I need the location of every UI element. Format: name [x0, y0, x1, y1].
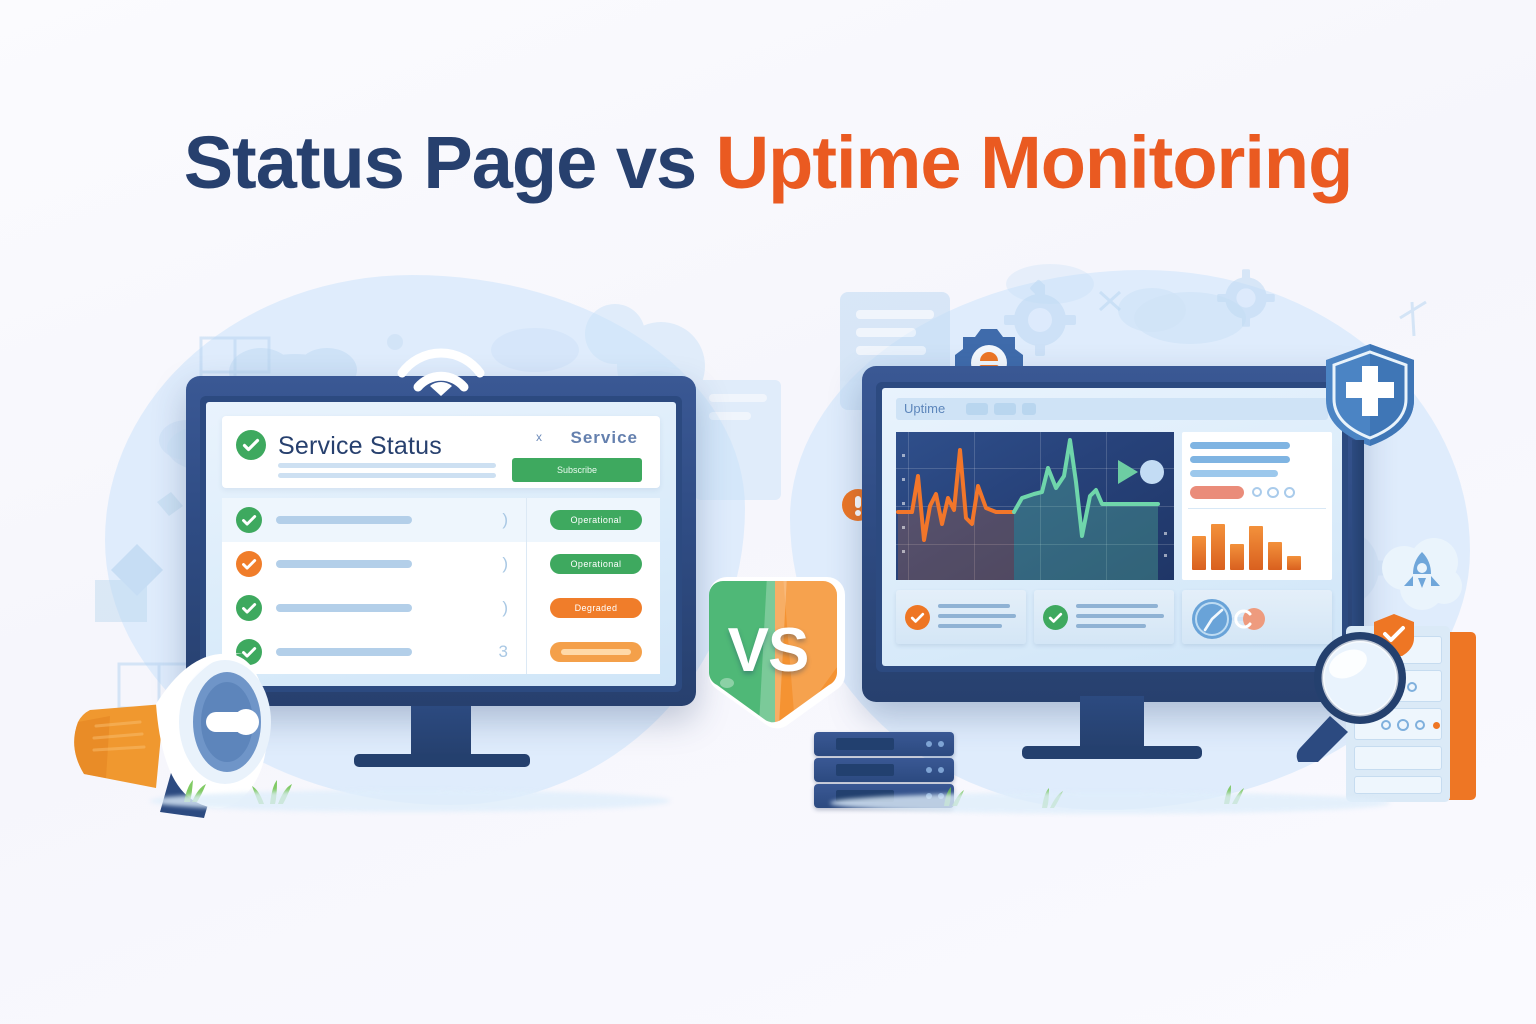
url-placeholder — [1022, 403, 1036, 415]
browser-toolbar[interactable]: Uptime — [896, 398, 1328, 420]
server-led — [938, 741, 944, 747]
bar-chart-bar — [1211, 524, 1225, 570]
url-placeholder — [966, 403, 988, 415]
url-placeholder — [994, 403, 1016, 415]
bar-chart-bar — [1192, 536, 1206, 570]
monitor-neck — [1080, 696, 1144, 748]
service-row[interactable]: ) Operational — [222, 498, 660, 542]
subscribe-button[interactable]: Subscribe — [512, 458, 642, 482]
illustration-stage: Status Page vs Uptime Monitoring — [0, 0, 1536, 1024]
row-meta: ) — [502, 598, 508, 618]
check-circle-green-icon — [236, 430, 266, 460]
monitor-neck — [411, 706, 471, 756]
ground-shadow — [830, 792, 1390, 814]
play-triangle-icon — [1118, 460, 1138, 484]
browser-url-text: Uptime — [904, 401, 945, 416]
monitor-base — [1022, 746, 1202, 759]
check-circle-green-icon — [1043, 605, 1068, 635]
row-label-placeholder — [276, 604, 412, 612]
service-status-title: Service Status — [278, 432, 442, 461]
check-circle-green-icon — [236, 595, 262, 621]
card-line — [1076, 624, 1146, 628]
bar-chart-bar — [1230, 544, 1244, 570]
card-line — [938, 624, 1002, 628]
check-circle-orange-icon — [236, 551, 262, 577]
check-circle-green-icon — [236, 507, 262, 533]
check-circle-orange-icon — [905, 605, 930, 635]
status-card[interactable] — [896, 590, 1026, 644]
bar-chart-bar — [1287, 556, 1301, 570]
service-status-header-card: Service Status x Service Subscribe — [222, 416, 660, 488]
status-card[interactable] — [1034, 590, 1174, 644]
placeholder-line — [278, 473, 496, 478]
magnifier-icon — [1286, 612, 1426, 762]
placeholder-line — [278, 463, 496, 468]
brand-prefix: x — [536, 430, 542, 444]
bar-chart-bar — [1268, 542, 1282, 570]
status-led — [1433, 722, 1440, 729]
title-right: Uptime Monitoring — [716, 121, 1353, 204]
row-meta: ) — [502, 510, 508, 530]
vs-label: VS — [683, 565, 853, 735]
card-line — [1076, 604, 1158, 608]
card-line — [938, 614, 1016, 618]
shield-cross-icon — [1322, 340, 1418, 450]
server-slot — [836, 738, 894, 750]
sidebar-line — [1190, 442, 1290, 449]
service-row[interactable]: ) Degraded — [222, 586, 660, 630]
ring-icon — [1252, 487, 1262, 497]
status-badge — [550, 642, 642, 662]
dot-circle-icon — [1140, 460, 1164, 484]
sidebar-line — [1190, 456, 1290, 463]
monitor-base — [354, 754, 530, 767]
rocket-icon — [1378, 530, 1466, 614]
uptime-dashboard-screen: Uptime — [882, 388, 1342, 666]
ring-icon — [1284, 487, 1295, 498]
chart-series-group — [896, 432, 1174, 580]
wifi-icon — [382, 335, 500, 397]
shield-pole — [1352, 440, 1364, 640]
alert-pill — [1190, 486, 1244, 499]
status-badge: Operational — [550, 554, 642, 574]
gauge-icon — [1188, 594, 1278, 644]
ring-icon — [1267, 487, 1279, 498]
bar-chart-bar — [1249, 526, 1263, 570]
card-line — [1076, 614, 1164, 618]
row-label-placeholder — [276, 560, 412, 568]
server-slot — [836, 764, 894, 776]
title-left: Status Page vs — [184, 121, 716, 204]
status-badge: Operational — [550, 510, 642, 530]
server-unit — [814, 732, 954, 756]
sidebar-line — [1190, 470, 1278, 477]
rack-unit — [1354, 776, 1442, 794]
ground-shadow — [150, 790, 670, 812]
uptime-chart — [896, 432, 1174, 580]
row-meta: 3 — [499, 642, 508, 662]
service-row[interactable]: ) Operational — [222, 542, 660, 586]
status-badge: Degraded — [550, 598, 642, 618]
sidebar-divider — [1188, 508, 1326, 509]
server-led — [926, 741, 932, 747]
row-label-placeholder — [276, 516, 412, 524]
card-line — [938, 604, 1010, 608]
vs-badge: VS — [683, 565, 853, 735]
badge-placeholder — [561, 649, 631, 655]
dashboard-sidebar — [1182, 432, 1332, 580]
page-title: Status Page vs Uptime Monitoring — [0, 120, 1536, 205]
row-meta: ) — [502, 554, 508, 574]
column-divider — [526, 498, 527, 674]
brand-label: Service — [571, 428, 639, 448]
